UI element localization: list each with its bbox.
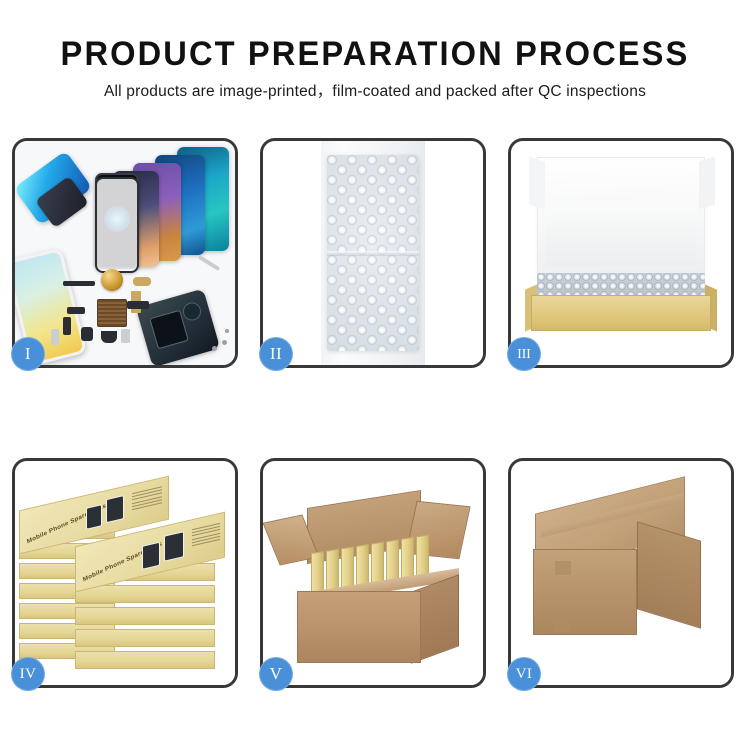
stacked-box (75, 585, 215, 603)
step-badge-6: VI (507, 657, 541, 691)
step-image-sealed-carton (511, 461, 731, 685)
sealed-carton-front-face (533, 549, 637, 635)
step-panel-2: II (260, 138, 486, 368)
step-image-stacked-boxes: Mobile Phone Spare Parts (15, 461, 235, 685)
page-subtitle: All products are image-printed，film-coat… (0, 80, 750, 104)
step-badge-4: IV (11, 657, 45, 691)
ic-chip-icon (97, 299, 127, 327)
carton-front-face (297, 591, 421, 663)
step-panel-5: V (260, 458, 486, 688)
step-badge-5: V (259, 657, 293, 691)
lid-flap-right (699, 156, 715, 209)
step-badge-1: I (11, 337, 45, 371)
stacked-box (75, 629, 215, 647)
spare-part-icon (51, 329, 59, 345)
carton-seam-bottom (555, 621, 571, 633)
box-spec-lines (192, 523, 220, 549)
phone-thumbnail-icon (106, 495, 124, 523)
box-stack: Mobile Phone Spare Parts (15, 471, 235, 685)
step-badge-2: II (259, 337, 293, 371)
screw-icon (225, 329, 229, 333)
lid-inner-shade (546, 204, 696, 266)
bubble-wrap-pouch-icon (327, 155, 419, 351)
spare-part-icon (101, 331, 117, 343)
box-spec-lines (132, 486, 162, 512)
screen-protector-icon (95, 177, 139, 273)
white-lid-icon (537, 157, 705, 275)
sealed-carton-side-face (637, 521, 701, 629)
screw-icon (212, 346, 217, 351)
phone-thumbnail-icon (164, 531, 184, 562)
spare-part-icon (63, 281, 95, 286)
kraft-box-front-face (531, 295, 711, 331)
lid-flap-left (529, 156, 545, 209)
page-title: PRODUCT PREPARATION PROCESS (15, 34, 735, 74)
step-panel-6: VI (508, 458, 734, 688)
spare-part-icon (133, 277, 151, 286)
step-image-inner-box (511, 141, 731, 365)
phone-thumbnail-icon (86, 504, 102, 530)
wrap-fold-line (327, 251, 419, 256)
step-image-carton-loading (263, 461, 483, 685)
stacked-box (75, 607, 215, 625)
spare-part-icon (127, 301, 149, 309)
step-panel-4: Mobile Phone Spare Parts (12, 458, 238, 688)
speaker-coil-icon (101, 269, 123, 291)
product-preparation-infographic: PRODUCT PREPARATION PROCESS All products… (0, 0, 750, 750)
step-panel-3: III (508, 138, 734, 368)
stacked-box (75, 651, 215, 669)
spare-part-icon (63, 317, 71, 335)
process-steps-grid: I II (12, 138, 738, 688)
carton-seam-top (555, 561, 571, 575)
step-panel-1: I (12, 138, 238, 368)
screw-icon (222, 340, 227, 345)
spare-part-icon (121, 329, 130, 343)
header: PRODUCT PREPARATION PROCESS All products… (0, 0, 750, 104)
phone-thumbnail-icon (142, 542, 160, 570)
step-badge-3: III (507, 337, 541, 371)
step-image-products (15, 141, 235, 365)
spare-part-icon (67, 307, 85, 314)
spare-part-icon (81, 327, 93, 341)
step-image-bubble-wrap (263, 141, 483, 365)
